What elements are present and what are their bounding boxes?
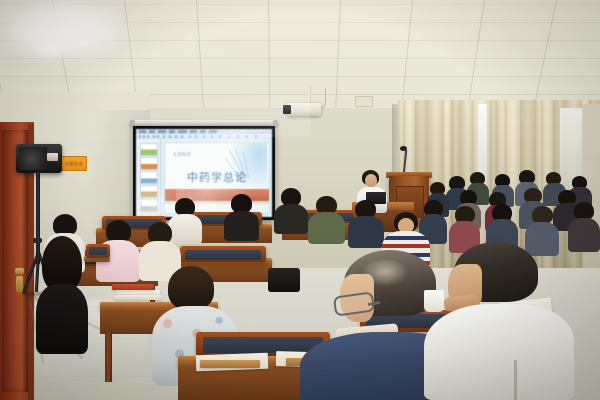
ceiling-tile-line <box>196 0 205 122</box>
pa-speaker <box>16 144 62 173</box>
tripod-adjust-knob[interactable] <box>33 238 42 243</box>
wall-plaque-label: 注意安全 <box>65 161 83 167</box>
ceiling-tile-line <box>0 76 600 77</box>
speaker-grill-icon <box>19 147 47 170</box>
chair-back <box>180 246 266 262</box>
door-lock-plate <box>15 268 24 274</box>
shirt-placket <box>514 360 517 400</box>
speaker-tripod-column <box>36 172 40 264</box>
handbag <box>268 268 300 292</box>
book-stack <box>112 284 154 290</box>
desk-leg <box>105 332 112 382</box>
lecture-hall-photo: 注意安全 <box>0 0 600 400</box>
slide-thumbnail[interactable] <box>140 143 158 156</box>
white-dress-shirt <box>424 304 574 400</box>
slide-thumbnail[interactable] <box>140 157 158 170</box>
chair-back <box>86 244 110 258</box>
projection-screen: LOGO 中药学总论 <box>133 126 275 220</box>
paper-cup <box>424 290 444 312</box>
projector-lens-icon <box>283 105 291 114</box>
ceiling-tile-line <box>268 0 270 122</box>
ceiling-tile-line <box>335 0 341 122</box>
ceiling-projector <box>287 103 321 116</box>
book-stack <box>114 295 162 300</box>
wall-plaque: 注意安全 <box>61 156 87 171</box>
ceiling-light-glare-small <box>28 30 74 60</box>
speaker-tweeter-icon <box>47 153 58 161</box>
book <box>200 360 260 368</box>
ceiling-vent <box>355 96 373 107</box>
microphone-icon <box>400 146 407 151</box>
